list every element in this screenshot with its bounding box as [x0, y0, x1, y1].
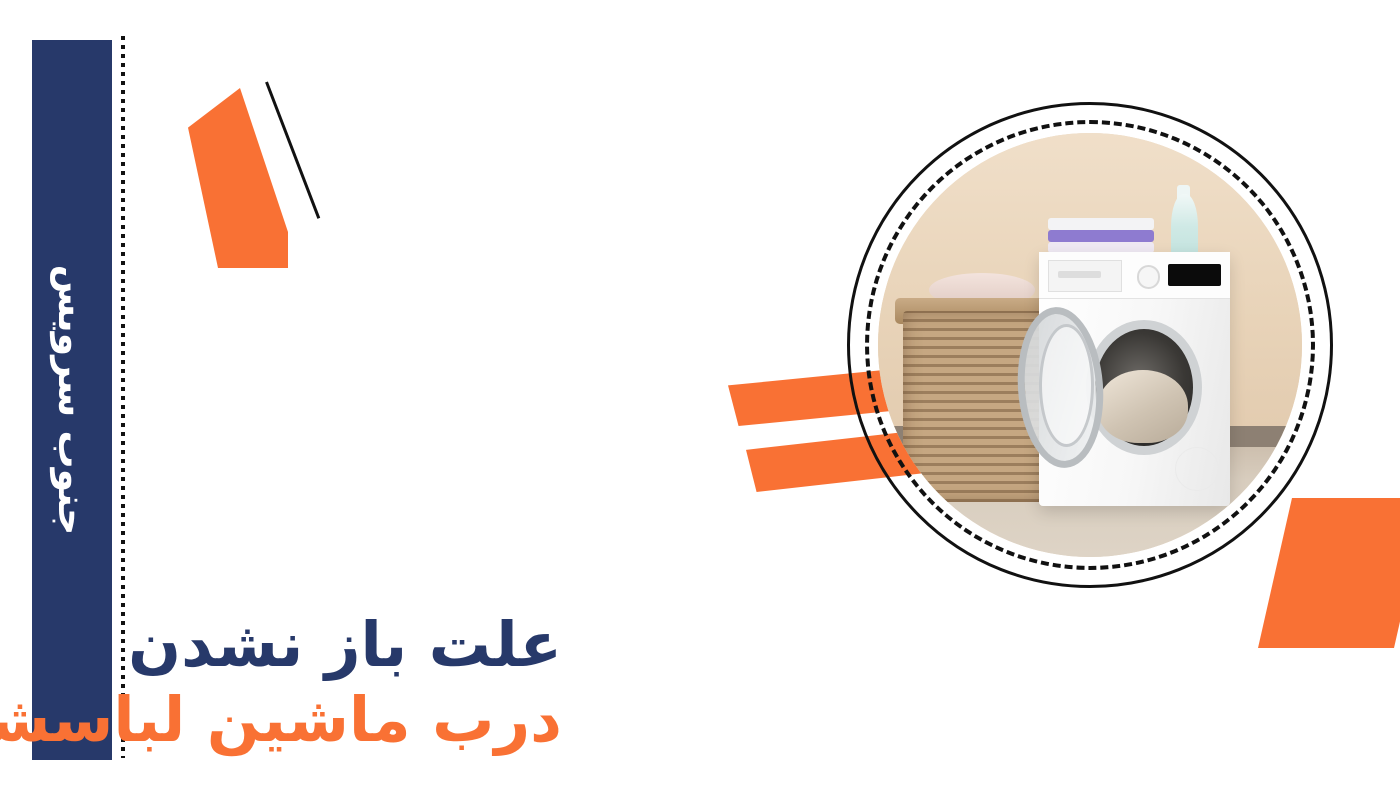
folded-towels: [1048, 218, 1154, 254]
control-display: [1168, 264, 1221, 287]
headline-line-2: درب ماشین لباسشویی: [0, 682, 562, 758]
washing-machine-photo: [878, 133, 1302, 557]
banner-card: جنوب سرویس جنوب سرویس جنوب سرویس جنوب سر…: [0, 0, 1400, 800]
orange-shape-top-left: [188, 88, 288, 268]
detergent-drawer-handle: [1058, 271, 1100, 278]
page-title: علت باز نشدن درب ماشین لباسشویی: [0, 607, 562, 758]
program-knob: [1137, 265, 1161, 289]
laundry-scene: [878, 133, 1302, 557]
laundry-inside-drum: [1098, 370, 1187, 442]
open-door-glass: [1039, 324, 1094, 447]
brand-sidebar-label: جنوب سرویس: [50, 265, 94, 536]
filter-hatch: [1175, 447, 1219, 491]
badge-ring-text: جنوب سرویس جنوب سرویس جنوب سرویس جنوب سر…: [800, 55, 818, 62]
headline-line-1: علت باز نشدن: [0, 607, 562, 683]
